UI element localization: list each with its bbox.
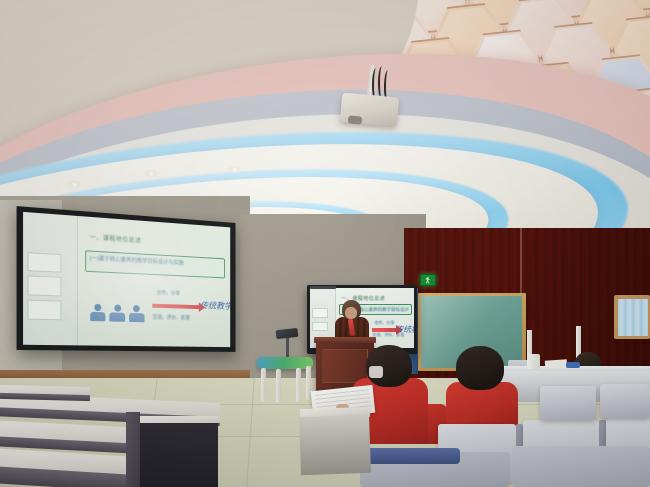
slide-arrow-icon <box>152 304 199 309</box>
side-table-top <box>257 357 313 369</box>
monitor-handwriting: 传统教学 <box>395 324 414 335</box>
table-leg <box>276 369 281 403</box>
person-icon <box>129 305 144 322</box>
person-icon <box>110 304 125 322</box>
person-head <box>114 304 121 311</box>
desk-side-panel <box>126 412 140 487</box>
desk-blue-object <box>566 362 580 368</box>
person-head <box>94 304 101 311</box>
table-leg <box>296 368 301 402</box>
downlight <box>68 181 81 188</box>
auditorium-seat[interactable] <box>600 384 650 418</box>
foreground-seat[interactable] <box>512 446 650 487</box>
monitor-label-top: 合作、分享 <box>374 320 394 326</box>
person-body <box>90 312 106 322</box>
slide-boxed-line: (一)基于核心素养的教学目标设计与实施 <box>90 253 222 268</box>
person-body <box>129 313 144 322</box>
slide-handwriting: 传统教学 <box>200 298 230 312</box>
person-icon <box>90 304 106 322</box>
lecture-hall-photo: 一、课程地位总述 (一)基于核心素养的教学目标设计与实施 合作、分享 <box>0 0 650 487</box>
tile-seam <box>246 378 255 487</box>
slide-label-top: 合作、分享 <box>156 289 179 297</box>
monitor-logo-bar <box>310 286 336 289</box>
student-desk-front <box>299 415 371 475</box>
slide-highlight-box: (一)基于核心素养的教学目标设计与实施 <box>85 250 224 278</box>
foreground-seat-cushion[interactable] <box>364 448 460 464</box>
slide-thumbnail <box>27 276 60 297</box>
slide-thumbnail <box>27 252 60 273</box>
downlight <box>145 170 158 177</box>
slide-people-icons <box>90 288 144 323</box>
face-mask <box>369 366 383 378</box>
monitor-thumbnail <box>312 308 328 318</box>
slide-label-bottom: 交流、评价、反思 <box>152 314 189 322</box>
attendee-second-row-head <box>456 346 504 390</box>
auditorium-seat[interactable] <box>540 386 596 420</box>
slide-thumbnail-pane <box>23 212 78 346</box>
person-body <box>110 312 125 321</box>
desk-papers <box>545 359 568 369</box>
person-head <box>133 305 140 312</box>
monitor-thumbnail <box>312 322 328 332</box>
desk-shelf-shadow <box>140 420 218 487</box>
slide-content: 一、课程地位总述 (一)基于核心素养的教学目标设计与实施 合作、分享 <box>23 212 230 347</box>
monitor-arrow-icon <box>372 328 397 332</box>
running-man-glyph <box>425 277 431 284</box>
desk-cup <box>527 354 540 369</box>
window-glass <box>618 299 648 336</box>
presenter-face <box>345 307 357 319</box>
downlight <box>228 166 241 173</box>
exit-sign-icon <box>420 274 436 286</box>
slide-title: 一、课程地位总述 <box>90 232 215 249</box>
podium-top <box>314 337 376 343</box>
table-leg <box>261 368 266 402</box>
slide-thumbnail <box>27 300 60 320</box>
projector-lens <box>348 115 363 124</box>
desk-shelf-lip <box>140 416 220 423</box>
projection-screen: 一、课程地位总述 (一)基于核心素养的教学目标设计与实施 合作、分享 <box>23 212 230 347</box>
